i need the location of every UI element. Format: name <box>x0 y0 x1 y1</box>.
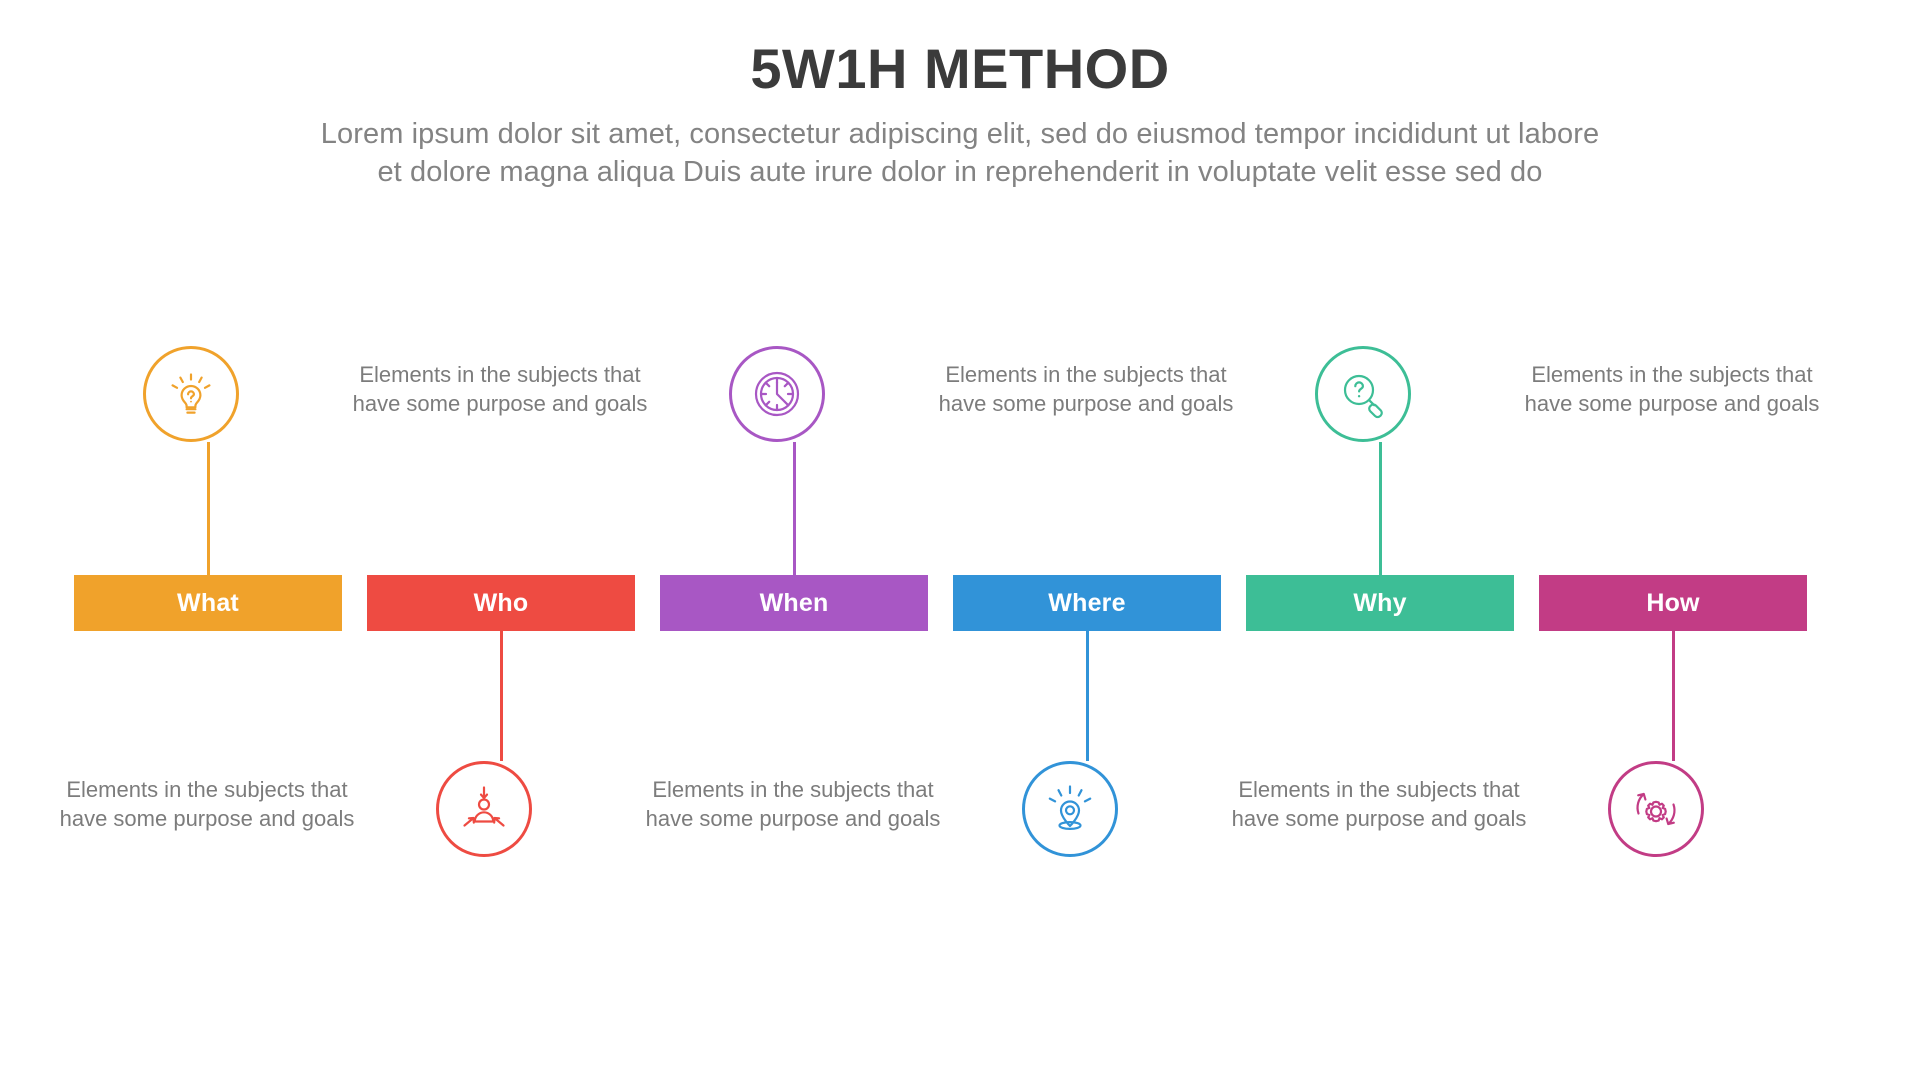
label-when: When <box>760 589 829 618</box>
header: 5W1H METHOD Lorem ipsum dolor sit amet, … <box>0 38 1920 191</box>
infographic-page: 5W1H METHOD Lorem ipsum dolor sit amet, … <box>0 0 1920 1080</box>
connector-line-how <box>1672 631 1675 761</box>
connector-line-why <box>1379 442 1382 575</box>
connector-line-who <box>500 631 503 761</box>
connector-line-what <box>207 442 210 575</box>
lightbulb-question-icon <box>143 346 239 442</box>
subtitle-line-1: Lorem ipsum dolor sit amet, consectetur … <box>60 115 1860 153</box>
description-where: Elements in the subjects that have some … <box>936 360 1236 418</box>
person-arrows-icon <box>436 761 532 857</box>
location-pin-icon <box>1022 761 1118 857</box>
label-box-who[interactable]: Who <box>367 575 635 631</box>
label-box-when[interactable]: When <box>660 575 928 631</box>
label-where: Where <box>1048 589 1125 618</box>
label-box-why[interactable]: Why <box>1246 575 1514 631</box>
page-title: 5W1H METHOD <box>0 38 1920 101</box>
description-how: Elements in the subjects that have some … <box>1522 360 1822 418</box>
label-box-how[interactable]: How <box>1539 575 1807 631</box>
description-why: Elements in the subjects that have some … <box>1229 775 1529 833</box>
connector-line-where <box>1086 631 1089 761</box>
magnifier-question-icon <box>1315 346 1411 442</box>
label-why: Why <box>1353 589 1406 618</box>
label-box-what[interactable]: What <box>74 575 342 631</box>
description-what: Elements in the subjects that have some … <box>57 775 357 833</box>
5w1h-diagram: What Elements in the subjects that have … <box>0 330 1920 890</box>
label-who: Who <box>474 589 529 618</box>
page-subtitle: Lorem ipsum dolor sit amet, consectetur … <box>60 115 1860 192</box>
label-how: How <box>1646 589 1699 618</box>
gear-refresh-icon <box>1608 761 1704 857</box>
label-what: What <box>177 589 239 618</box>
clock-icon <box>729 346 825 442</box>
description-who: Elements in the subjects that have some … <box>350 360 650 418</box>
subtitle-line-2: et dolore magna aliqua Duis aute irure d… <box>60 153 1860 191</box>
description-when: Elements in the subjects that have some … <box>643 775 943 833</box>
label-box-where[interactable]: Where <box>953 575 1221 631</box>
connector-line-when <box>793 442 796 575</box>
